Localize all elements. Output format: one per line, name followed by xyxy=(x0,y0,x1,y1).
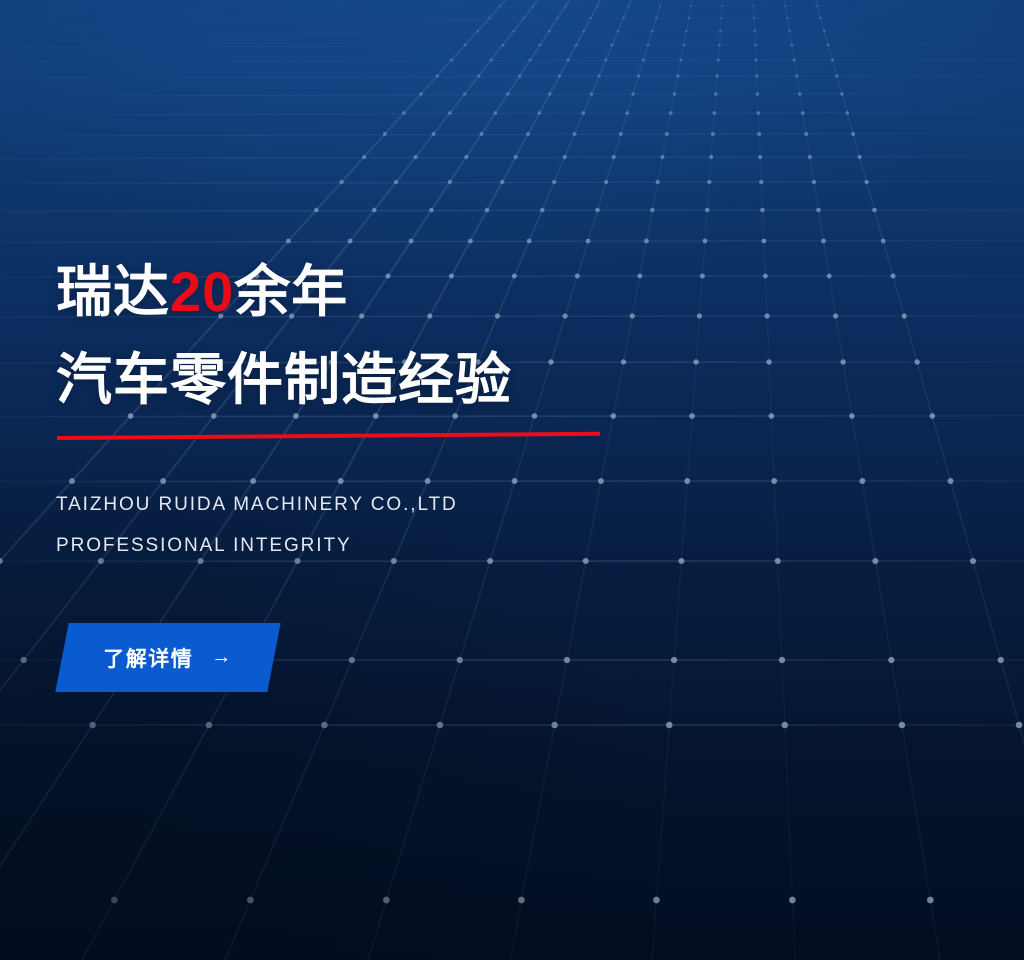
subtitle-line-slogan: PROFESSIONAL INTEGRITY xyxy=(56,525,458,566)
learn-more-button[interactable]: 了解详情 → xyxy=(55,623,280,692)
headline-line-1: 瑞达20余年 xyxy=(56,248,512,336)
learn-more-label: 了解详情 xyxy=(103,643,193,673)
subtitle-line-company: TAIZHOU RUIDA MACHINERY CO.,LTD xyxy=(56,484,458,525)
red-divider-rule xyxy=(57,432,600,440)
learn-more-button-inner: 了解详情 → xyxy=(62,623,274,692)
headline-accent-number: 20 xyxy=(170,260,234,323)
arrow-right-icon: → xyxy=(211,647,233,667)
hero-content: 瑞达20余年 汽车零件制造经验 TAIZHOU RUIDA MACHINERY … xyxy=(56,0,756,960)
subtitle: TAIZHOU RUIDA MACHINERY CO.,LTD PROFESSI… xyxy=(56,484,458,566)
page-title: 瑞达20余年 汽车零件制造经验 xyxy=(56,248,512,424)
headline-suffix: 余年 xyxy=(234,260,348,323)
hero-banner: 瑞达20余年 汽车零件制造经验 TAIZHOU RUIDA MACHINERY … xyxy=(0,0,1024,960)
headline-prefix: 瑞达 xyxy=(56,260,170,323)
headline-line-2: 汽车零件制造经验 xyxy=(56,336,512,424)
